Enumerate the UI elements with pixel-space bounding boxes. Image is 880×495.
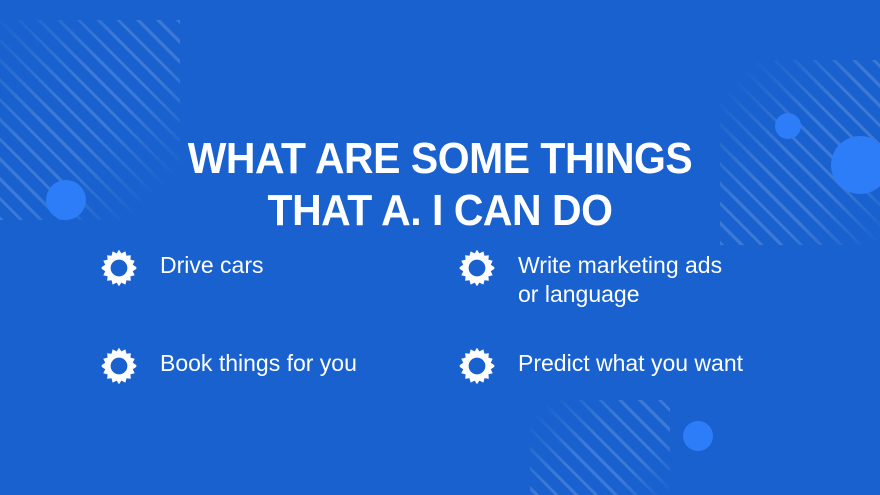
- list-item: Book things for you: [100, 346, 432, 385]
- slide-title-line-2: THAT A. I CAN DO: [31, 185, 849, 237]
- slide-content: WHAT ARE SOME THINGS THAT A. I CAN DO Dr…: [0, 0, 880, 495]
- gear-icon: [100, 249, 138, 287]
- list-item: Predict what you want: [458, 346, 790, 385]
- list-item: Drive cars: [100, 248, 432, 308]
- capability-list: Drive cars Write marketing ads or langua…: [100, 248, 790, 385]
- slide-canvas: WHAT ARE SOME THINGS THAT A. I CAN DO Dr…: [0, 0, 880, 495]
- list-item-label: Write marketing ads or language: [518, 248, 722, 308]
- gear-icon: [458, 249, 496, 287]
- list-item: Write marketing ads or language: [458, 248, 790, 308]
- list-item-label: Drive cars: [160, 248, 264, 280]
- gear-icon: [100, 347, 138, 385]
- slide-title: WHAT ARE SOME THINGS THAT A. I CAN DO: [31, 133, 849, 237]
- list-item-label: Book things for you: [160, 346, 357, 378]
- gear-icon: [458, 347, 496, 385]
- list-item-label: Predict what you want: [518, 346, 743, 378]
- slide-title-line-1: WHAT ARE SOME THINGS: [31, 133, 849, 185]
